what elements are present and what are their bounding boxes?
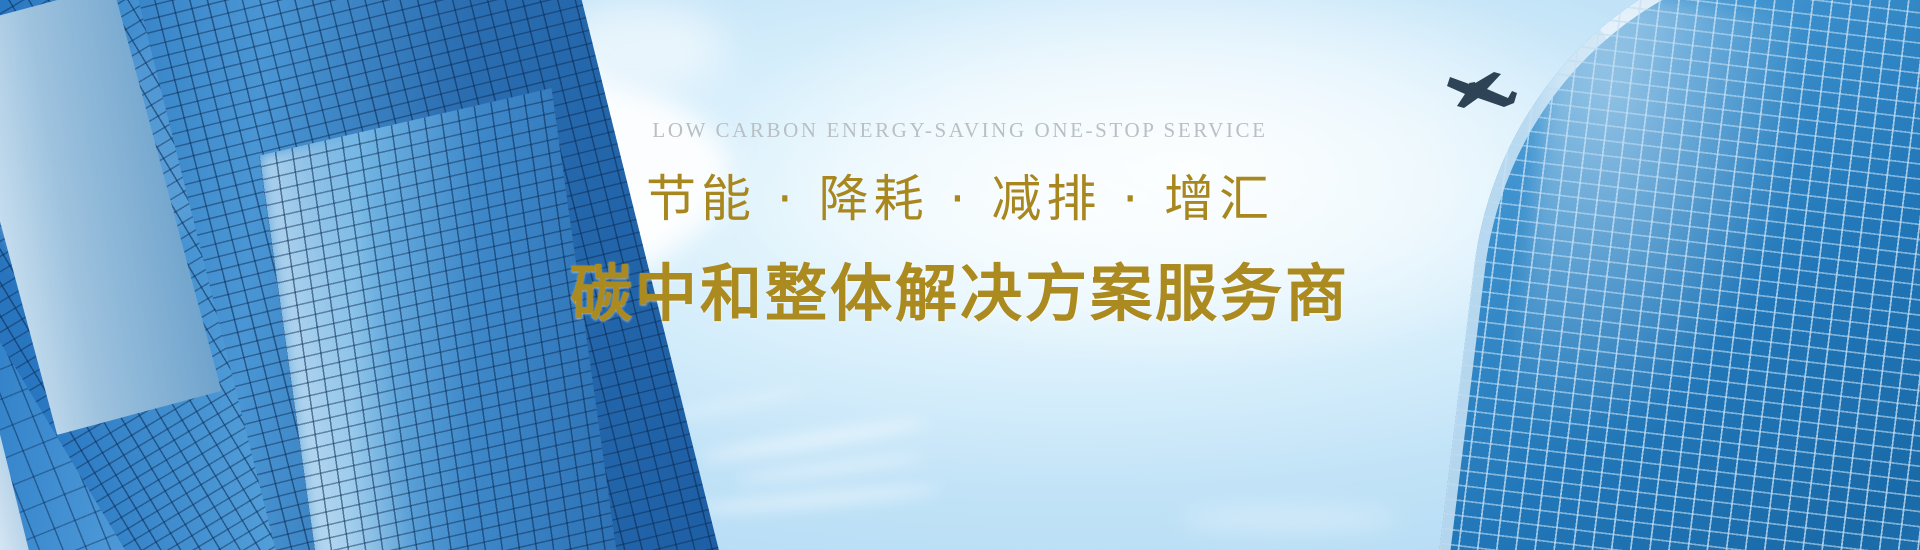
cloud-wisp [1180,508,1400,530]
tagline-english: LOW CARBON ENERGY-SAVING ONE-STOP SERVIC… [0,118,1920,143]
hero-banner: LOW CARBON ENERGY-SAVING ONE-STOP SERVIC… [0,0,1920,550]
subtitle-chinese: 节能 · 降耗 · 减排 · 增汇 [0,159,1920,231]
headline-chinese: 碳中和整体解决方案服务商 [0,243,1920,333]
banner-copy: LOW CARBON ENERGY-SAVING ONE-STOP SERVIC… [0,118,1920,333]
airplane-icon [1442,55,1524,117]
